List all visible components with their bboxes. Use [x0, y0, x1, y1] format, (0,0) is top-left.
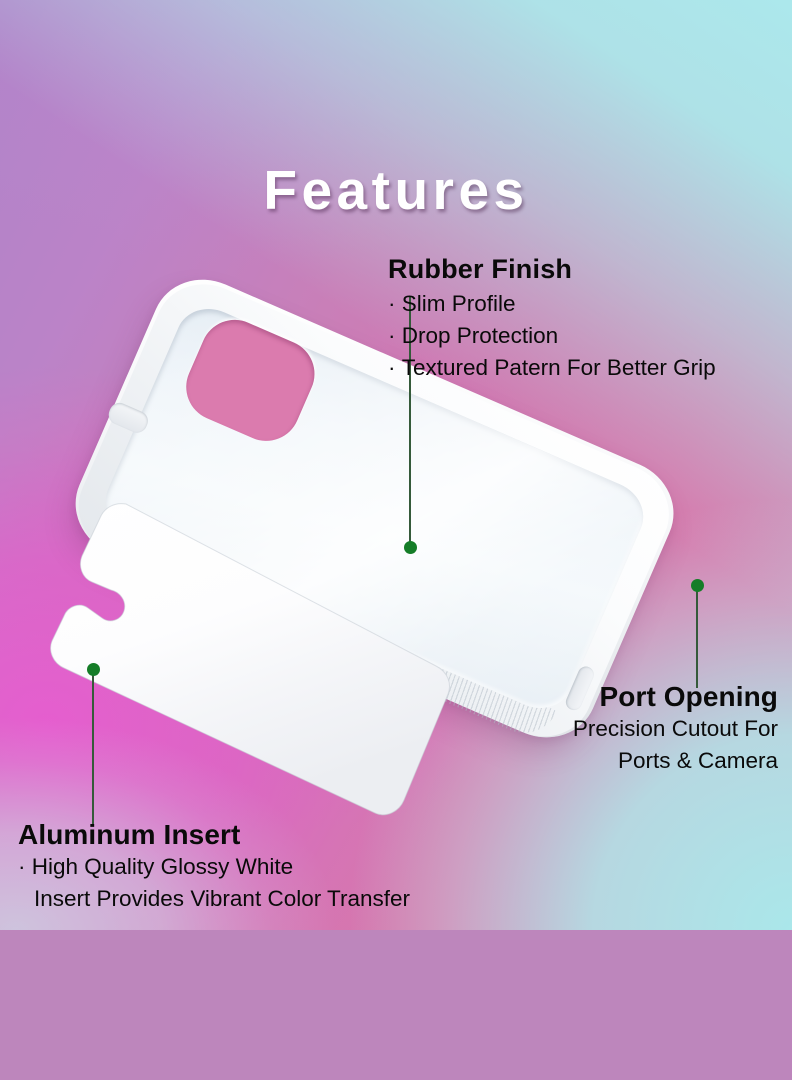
callout-heading-aluminum-insert: Aluminum Insert [18, 820, 410, 851]
feature-infographic: Features [0, 0, 792, 1080]
leader-dot-port-opening [691, 579, 704, 592]
bullet-glyph: · [388, 323, 396, 348]
bullet-glyph: · [388, 355, 396, 380]
list-item: · High Quality Glossy White [18, 851, 410, 883]
callout-line: Ports & Camera [573, 745, 778, 777]
bottom-color-band [0, 930, 792, 1080]
leader-dot-rubber-finish [404, 541, 417, 554]
insert-plate-shape [51, 504, 450, 815]
list-item-label: Slim Profile [402, 291, 516, 316]
leader-line-aluminum-insert [92, 673, 94, 825]
bullet-glyph: · [388, 291, 396, 316]
list-item-label: High Quality Glossy White [32, 854, 293, 879]
callout-rubber-finish: Rubber Finish · Slim Profile · Drop Prot… [388, 255, 716, 384]
leader-line-port-opening [696, 588, 698, 688]
callout-bullet-list-aluminum-insert: · High Quality Glossy White Insert Provi… [18, 851, 410, 915]
list-item: Insert Provides Vibrant Color Transfer [18, 883, 410, 915]
callout-bullet-list-rubber-finish: · Slim Profile · Drop Protection · Textu… [388, 288, 716, 384]
callout-port-opening: Port Opening Precision Cutout For Ports … [573, 682, 778, 777]
list-item: · Textured Patern For Better Grip [388, 352, 716, 384]
callout-heading-port-opening: Port Opening [573, 682, 778, 713]
page-title: Features [0, 163, 792, 218]
list-item: · Drop Protection [388, 320, 716, 352]
callout-heading-rubber-finish: Rubber Finish [388, 255, 716, 285]
list-item-label: Insert Provides Vibrant Color Transfer [34, 886, 410, 911]
list-item: · Slim Profile [388, 288, 716, 320]
callout-aluminum-insert: Aluminum Insert · High Quality Glossy Wh… [18, 820, 410, 915]
callout-line: Precision Cutout For [573, 713, 778, 745]
leader-dot-aluminum-insert [87, 663, 100, 676]
list-item-label: Drop Protection [402, 323, 558, 348]
bullet-glyph: · [18, 854, 26, 879]
list-item-label: Textured Patern For Better Grip [402, 355, 716, 380]
